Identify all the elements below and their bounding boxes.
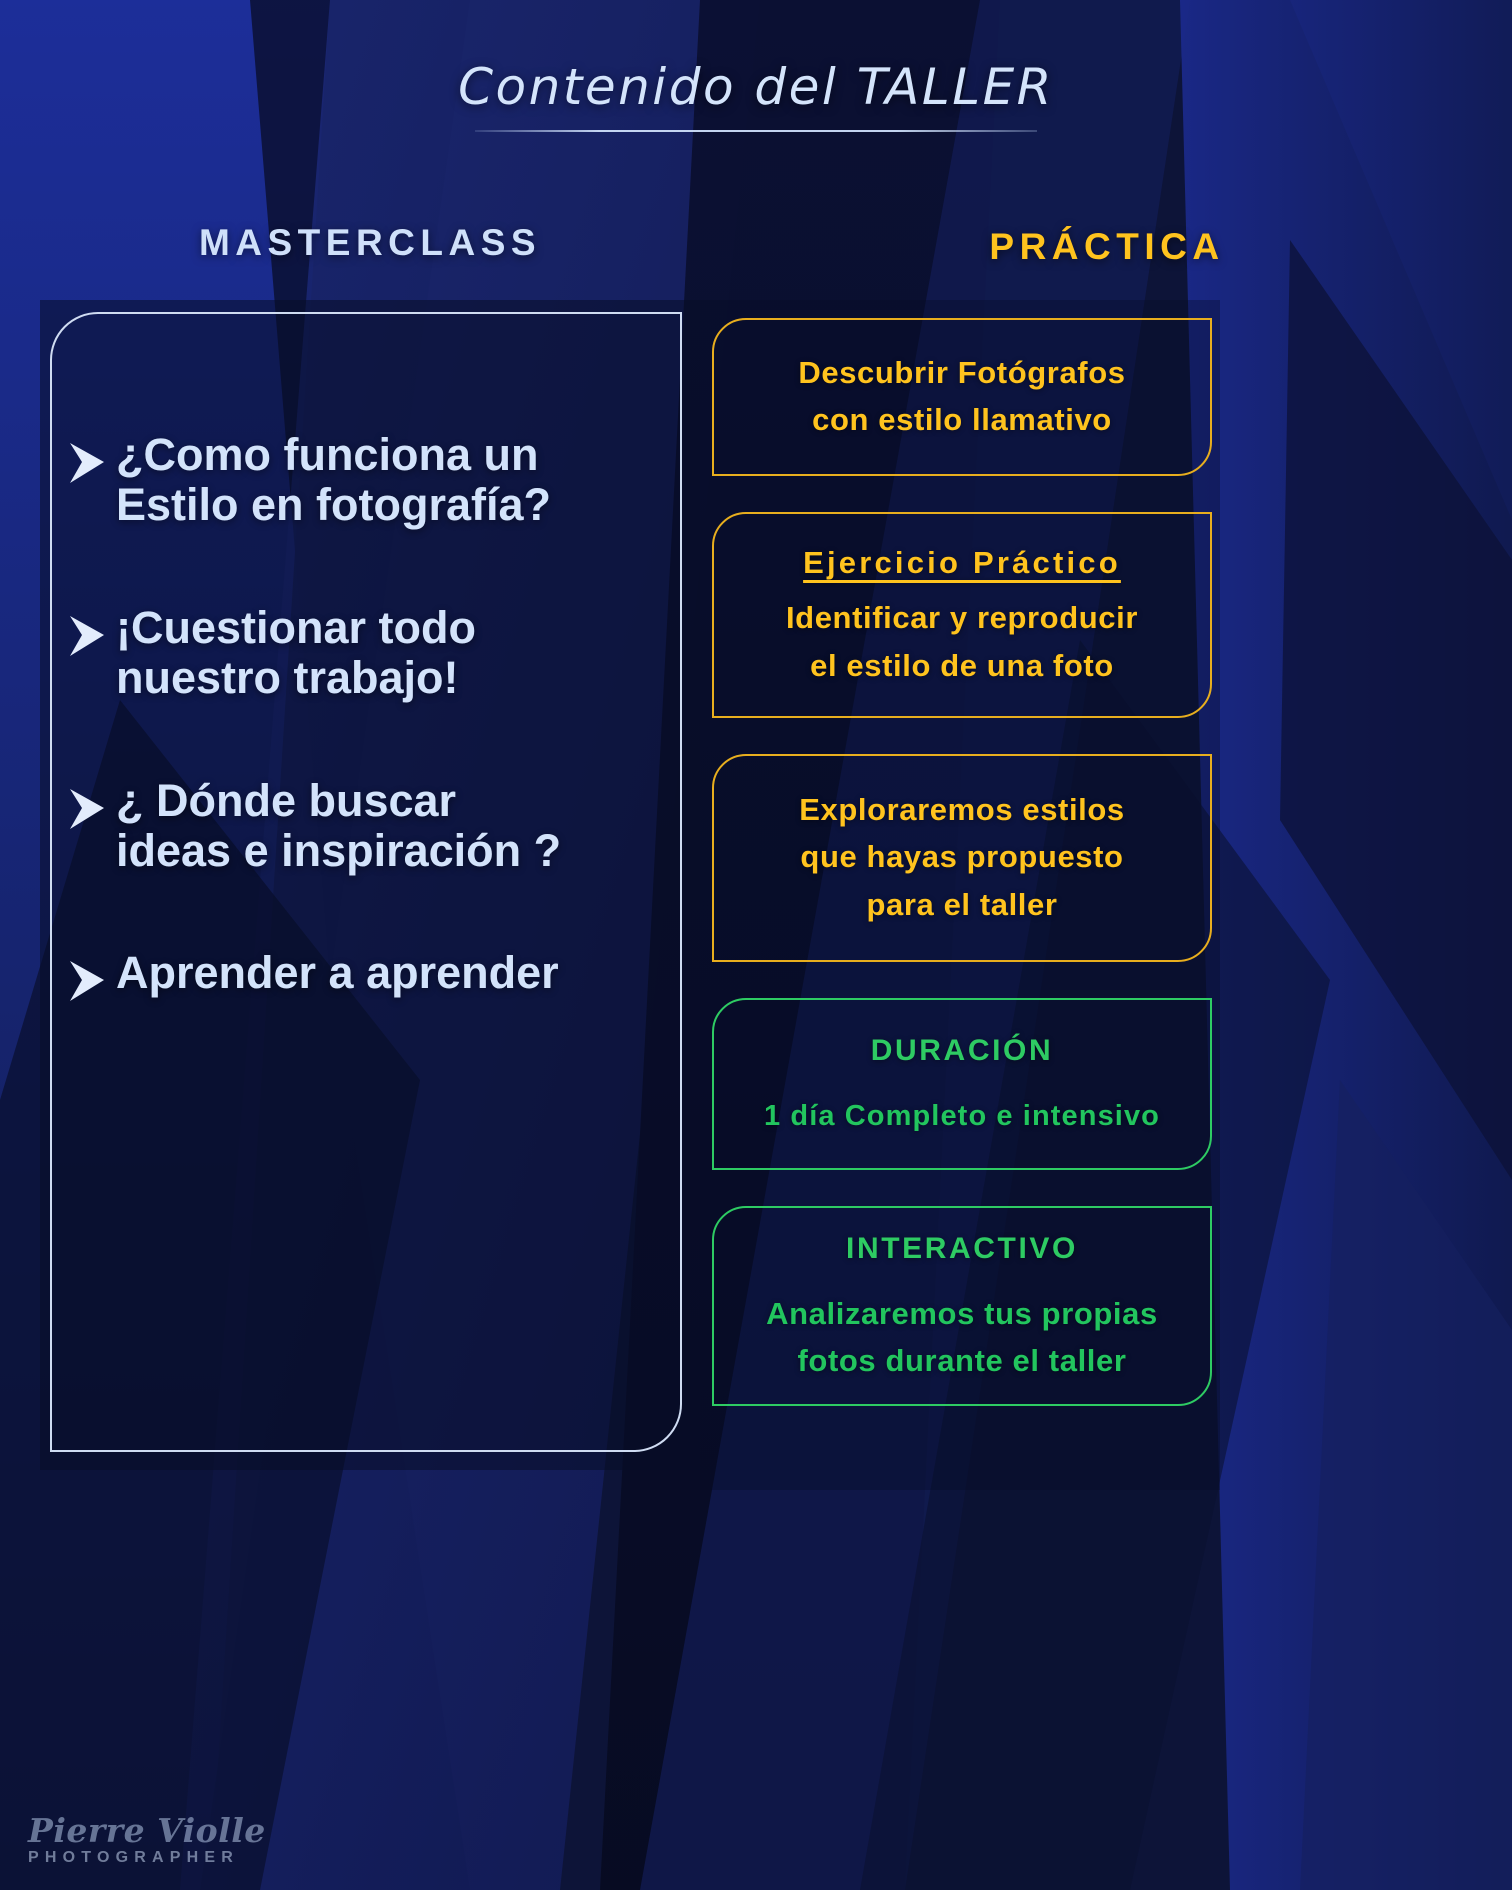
title-divider <box>475 130 1037 132</box>
practica-box-heading: DURACIÓN <box>728 1028 1196 1074</box>
list-item-text: ¡Cuestionar todo nuestro trabajo! <box>116 603 476 704</box>
list-item[interactable]: ¿ Dónde buscar ideas e inspiración ? <box>66 776 706 877</box>
watermark-subtitle: PHOTOGRAPHER <box>28 1850 266 1866</box>
list-item-line1: ¿ Dónde buscar <box>116 775 456 826</box>
practica-box-heading: Ejercicio Práctico <box>728 539 1196 586</box>
list-item-line2: Estilo en fotografía? <box>116 479 551 530</box>
list-item-text: ¿Como funciona un Estilo en fotografía? <box>116 430 551 531</box>
arrow-right-icon <box>66 958 108 1004</box>
practica-box-line: con estilo llamativo <box>728 396 1196 443</box>
list-item[interactable]: ¡Cuestionar todo nuestro trabajo! <box>66 603 706 704</box>
practica-box-line: Identificar y reproducir <box>728 594 1196 641</box>
page-title: Contenido del TALLER <box>0 58 1512 116</box>
arrow-right-icon <box>66 613 108 659</box>
arrow-right-icon <box>66 786 108 832</box>
practica-box-heading: INTERACTIVO <box>728 1226 1196 1272</box>
practica-heading: PRÁCTICA <box>712 226 1502 268</box>
poster-canvas: Contenido del TALLER MASTERCLASS PRÁCTIC… <box>0 0 1512 1890</box>
list-item-line1: ¿Como funciona un <box>116 429 538 480</box>
list-item-line1: ¡Cuestionar todo <box>116 602 476 653</box>
spacer <box>728 1272 1196 1290</box>
practica-box[interactable]: INTERACTIVO Analizaremos tus propias fot… <box>712 1206 1212 1406</box>
practica-box-line: Exploraremos estilos <box>728 786 1196 833</box>
practica-box[interactable]: DURACIÓN 1 día Completo e intensivo <box>712 998 1212 1170</box>
masterclass-heading: MASTERCLASS <box>60 222 680 264</box>
list-item[interactable]: ¿Como funciona un Estilo en fotografía? <box>66 430 706 531</box>
list-item-line2: nuestro trabajo! <box>116 652 459 703</box>
page-title-text: Contenido del TALLER <box>458 58 1054 116</box>
list-item-text: ¿ Dónde buscar ideas e inspiración ? <box>116 776 561 877</box>
arrow-right-icon <box>66 440 108 486</box>
practica-box-line: que hayas propuesto <box>728 833 1196 880</box>
list-item-line1: Aprender a aprender <box>116 947 559 998</box>
list-item-line2: ideas e inspiración ? <box>116 825 561 876</box>
practica-box[interactable]: Exploraremos estilos que hayas propuesto… <box>712 754 1212 962</box>
practica-box-line: 1 día Completo e intensivo <box>728 1094 1196 1138</box>
practica-box[interactable]: Descubrir Fotógrafos con estilo llamativ… <box>712 318 1212 476</box>
practica-box-line: para el taller <box>728 881 1196 928</box>
spacer <box>728 1074 1196 1094</box>
practica-box-line: Analizaremos tus propias <box>728 1290 1196 1337</box>
practica-box-line: Descubrir Fotógrafos <box>728 349 1196 396</box>
practica-box-line: fotos durante el taller <box>728 1337 1196 1384</box>
watermark-name: Pierre Violle <box>28 1814 266 1847</box>
list-item-text: Aprender a aprender <box>116 948 559 998</box>
watermark: Pierre Violle PHOTOGRAPHER <box>28 1814 266 1866</box>
practica-list: Descubrir Fotógrafos con estilo llamativ… <box>712 318 1212 1442</box>
practica-box[interactable]: Ejercicio Práctico Identificar y reprodu… <box>712 512 1212 718</box>
list-item[interactable]: Aprender a aprender <box>66 948 706 1004</box>
masterclass-list: ¿Como funciona un Estilo en fotografía? … <box>66 430 706 1004</box>
practica-box-line: el estilo de una foto <box>728 642 1196 689</box>
